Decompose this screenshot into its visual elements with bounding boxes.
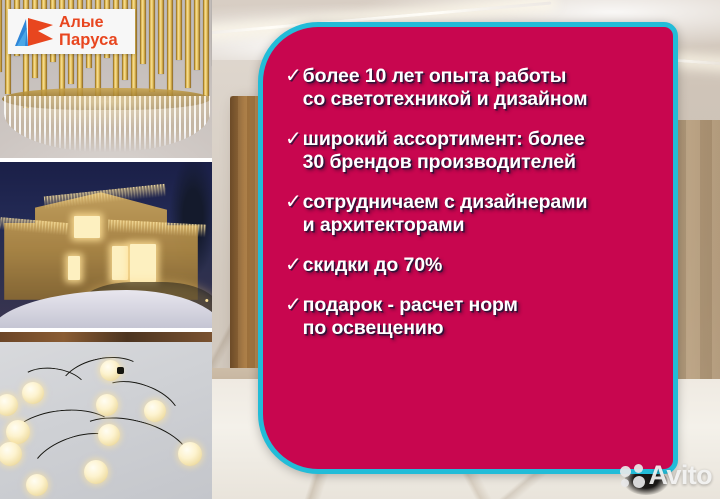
light-bulb-icon — [100, 360, 121, 381]
avito-watermark: Avito — [620, 460, 713, 491]
window-icon — [74, 216, 100, 238]
light-bulb-icon — [26, 474, 48, 496]
features-panel: ✓ более 10 лет опыта работы со светотехн… — [258, 22, 678, 474]
feature-text: подарок - расчет норм по освещению — [303, 294, 518, 340]
scarlet-sails-icon — [12, 15, 56, 49]
light-bulb-icon — [84, 460, 108, 484]
light-bulb-icon — [96, 394, 118, 416]
light-bulb-icon — [98, 424, 120, 446]
check-icon: ✓ — [285, 65, 302, 87]
feature-text: скидки до 70% — [303, 254, 443, 277]
feature-bullet: ✓ подарок - расчет норм по освещению — [285, 294, 665, 340]
feature-bullet: ✓ скидки до 70% — [285, 254, 665, 277]
advertisement-banner: ✓ более 10 лет опыта работы со светотехн… — [0, 0, 720, 499]
avito-dots-icon — [620, 464, 647, 488]
feature-text: более 10 лет опыта работы со светотехник… — [303, 65, 588, 111]
light-bulb-icon — [178, 442, 202, 466]
window-icon — [112, 246, 128, 280]
feature-bullet: ✓ широкий ассортимент: более 30 брендов … — [285, 128, 665, 174]
light-bulb-icon — [6, 420, 30, 444]
gallery-photo-globe-lights[interactable] — [0, 332, 212, 499]
window-icon — [130, 244, 156, 282]
check-icon: ✓ — [285, 254, 302, 276]
feature-text: широкий ассортимент: более 30 брендов пр… — [303, 128, 585, 174]
feature-text: сотрудничаем с дизайнерами и архитектора… — [303, 191, 588, 237]
check-icon: ✓ — [285, 128, 302, 150]
check-icon: ✓ — [285, 191, 302, 213]
company-logo[interactable]: Алые Паруса — [8, 9, 135, 54]
crystal-rods — [4, 96, 210, 152]
avito-label: Avito — [649, 460, 713, 491]
logo-line-1: Алые — [59, 15, 118, 31]
check-icon: ✓ — [285, 294, 302, 316]
gallery-photo-house-lights[interactable] — [0, 162, 212, 328]
light-bulb-icon — [22, 382, 44, 404]
wood-surface-strip — [0, 332, 212, 342]
window-icon — [68, 256, 80, 280]
light-bulb-icon — [144, 400, 166, 422]
feature-bullet: ✓ сотрудничаем с дизайнерами и архитекто… — [285, 191, 665, 237]
photo-gallery-column — [0, 0, 212, 499]
logo-line-2: Паруса — [59, 32, 118, 49]
feature-bullet: ✓ более 10 лет опыта работы со светотехн… — [285, 65, 665, 111]
